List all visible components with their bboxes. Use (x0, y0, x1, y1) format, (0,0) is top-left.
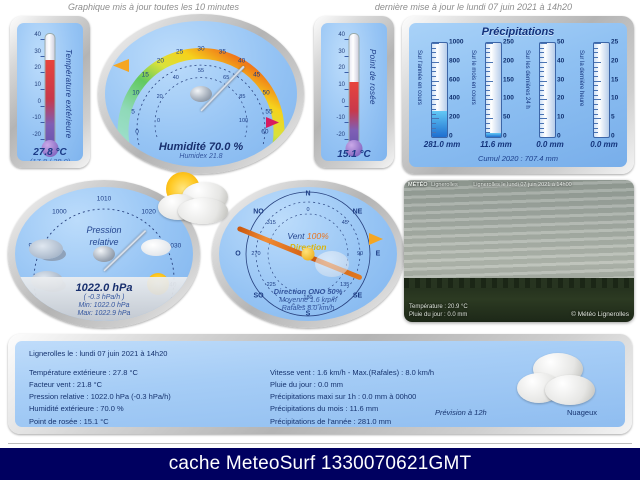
pressure-title-line1: Pression (15, 225, 193, 237)
summary-line: Pluie du jour : 0.0 mm (270, 379, 434, 391)
humidity-scale-label: 40 (238, 57, 245, 64)
summary-line: Précipitations de l'année : 281.0 mm (270, 416, 434, 427)
humidity-scale-label: 5 (131, 109, 135, 116)
precipitation-axis-label: Sur le mois en cours (470, 50, 476, 105)
forecast-icon (515, 351, 601, 409)
humidity-scale-label: 0 (135, 128, 139, 135)
humidity-scale-label: 15 (142, 72, 149, 79)
webcam-sky (404, 180, 634, 284)
pressure-hub (93, 246, 115, 262)
wind-degree-label: 45 (342, 220, 348, 226)
pressure-scale-label: 1000 (52, 209, 66, 216)
summary-left-column: Température extérieure : 27.8 °CFacteur … (29, 367, 171, 427)
precipitation-face: Précipitations Sur l'année en cours10008… (409, 23, 627, 167)
precipitation-tick-labels: 250200150100500 (502, 42, 524, 136)
pressure-scale-label: 1010 (97, 196, 111, 203)
precipitation-value: 281.0 mm (413, 140, 471, 149)
rain-cloud-icon (29, 239, 63, 259)
temperature-gauge[interactable]: 403020100-10-20 Température extérieure 2… (10, 16, 90, 168)
bottom-bar-text: cache MeteoSurf 1330070621GMT (169, 453, 472, 475)
forecast-cloud-front (545, 375, 595, 405)
forecast-label: Prévision à 12h (435, 408, 487, 417)
wind-speed: Moyenne 1.6 km/h (219, 297, 397, 305)
precipitation-column[interactable]: Sur la dernière heure25201510500.0 mm (579, 42, 627, 158)
summary-line: Point de rosée : 15.1 °C (29, 416, 171, 427)
webcam-copyright: © Météo Lignerolles (571, 311, 629, 318)
partly-cloudy-icon (141, 239, 171, 256)
thermo-scale-label: -20 (32, 132, 41, 138)
humidity-value: Humidité 70.0 % (105, 141, 297, 153)
precipitation-cumul: Cumul 2020 : 707.4 mm (409, 154, 627, 163)
pressure-value: 1022.0 hPa (15, 282, 193, 294)
summary-panel[interactable]: Lignerolles le : lundi 07 juin 2021 à 14… (8, 334, 632, 434)
webcam-logo-line1: MÉTÉO (408, 182, 428, 188)
thermo-scale-label: -10 (336, 115, 345, 121)
precipitation-axis-label: Sur la dernière heure (578, 50, 584, 106)
wind-compass-label: N (305, 191, 310, 198)
thermo-scale-label: 40 (34, 32, 41, 38)
webcam-overlay-stats: Température : 20.9 °C Pluie du jour : 0.… (409, 303, 468, 319)
humidity-inner-label: 55 (198, 68, 204, 74)
precipitation-value: 0.0 mm (575, 140, 627, 149)
webcam-timestamp: Lignerolles le lundi 07 juin 2021 à 14h0… (473, 182, 571, 188)
precipitation-value: 0.0 mm (521, 140, 579, 149)
humidity-scale-label: 55 (265, 109, 272, 116)
webcam-header: MÉTÉO Lignerolles Lignerolles le lundi 0… (408, 182, 630, 188)
wind-direction: Direction ONO 50% (219, 288, 397, 297)
thermo-scale-label: 0 (38, 99, 41, 105)
humidity-scale-label: 60 (261, 128, 268, 135)
pressure-readout: 1022.0 hPa ( -0.3 hPa/h ) Min: 1022.0 hP… (15, 282, 193, 318)
summary-face: Lignerolles le : lundi 07 juin 2021 à 14… (15, 341, 625, 427)
precipitation-tube (485, 42, 502, 138)
thermo-scale-label: 40 (338, 32, 345, 38)
summary-line: Température extérieure : 27.8 °C (29, 367, 171, 379)
thermo-scale-label: 30 (34, 49, 41, 55)
header: Graphique mis à jour toutes les 10 minut… (0, 0, 640, 13)
dewpoint-tube (349, 33, 360, 147)
dewpoint-scale: 403020100-10-20 (321, 29, 347, 147)
precipitation-tick-labels: 50403020100 (556, 42, 578, 136)
precipitation-title: Précipitations (409, 26, 627, 38)
precipitation-tube (539, 42, 556, 138)
humidity-scale-label: 25 (176, 48, 183, 55)
wind-title-line1: Vent (287, 231, 304, 241)
wind-compass-label: NE (353, 208, 363, 215)
precipitation-axis-label: Sur les dernières 24 h (524, 50, 530, 109)
humidity-gauge[interactable]: 051015202530354045505560 02040556585100 … (98, 14, 304, 174)
humidity-inner-label: 40 (173, 75, 179, 81)
summary-line: Pression relative : 1022.0 hPa (-0.3 hPa… (29, 391, 171, 403)
forecast-text: Nuageux (567, 408, 597, 417)
summary-line: Précipitations du mois : 11.6 mm (270, 403, 434, 415)
thermo-scale-label: 10 (34, 82, 41, 88)
humidity-inner-label: 0 (157, 118, 160, 124)
summary-line: Précipitations maxi sur 1h : 0.0 mm à 00… (270, 391, 434, 403)
humidity-scale-label: 45 (253, 72, 260, 79)
humidity-scale-label: 20 (157, 57, 164, 64)
wind-gust: Rafales 8.0 km/h (219, 305, 397, 313)
dewpoint-mercury (350, 82, 359, 147)
precipitation-tube (431, 42, 448, 138)
precipitation-tick-labels: 10008006004002000 (448, 42, 470, 136)
thermo-scale-label: 20 (34, 65, 41, 71)
precipitation-tube (593, 42, 610, 138)
humidity-readout: Humidité 70.0 % Humidex 21.8 (105, 141, 297, 161)
humidity-hub (190, 86, 212, 102)
precipitation-tick-labels: 2520151050 (610, 42, 627, 136)
wind-hub (302, 248, 315, 261)
humidity-humidex: Humidex 21.8 (105, 153, 297, 161)
wind-swirl-icon (315, 251, 349, 277)
summary-date: Lignerolles le : lundi 07 juin 2021 à 14… (29, 349, 167, 358)
precipitation-column[interactable]: Sur le mois en cours25020015010050011.6 … (471, 42, 521, 158)
header-right-text: dernière mise à jour le lundi 07 juin 20… (375, 2, 572, 12)
thermo-scale-label: 30 (338, 49, 345, 55)
webcam-temp: Température : 20.9 °C (409, 303, 468, 311)
humidity-scale-label: 50 (263, 89, 270, 96)
overlay-cloud-front (178, 198, 228, 224)
precipitation-value: 11.6 mm (467, 140, 525, 149)
summary-right-column: Vitesse vent : 1.6 km/h - Max.(Rafales) … (270, 367, 434, 427)
temperature-mercury (46, 60, 55, 146)
webcam-rain: Pluie du jour : 0.0 mm (409, 311, 468, 319)
header-left-text: Graphique mis à jour toutes les 10 minut… (68, 2, 239, 12)
wind-degree-label: 315 (267, 220, 276, 226)
dewpoint-value: 15.1 °C (321, 149, 387, 160)
pressure-max: Max: 1022.9 hPa (15, 310, 193, 318)
weather-dashboard: Graphique mis à jour toutes les 10 minut… (0, 0, 640, 480)
temperature-title: Température extérieure (64, 49, 73, 138)
precipitation-column[interactable]: Sur l'année en cours10008006004002000281… (417, 42, 467, 158)
humidity-scale-label: 10 (132, 89, 139, 96)
pressure-trend: ( -0.3 hPa/h ) (15, 294, 193, 302)
temperature-minmax: (17.8 / 28.0) (17, 157, 83, 161)
wind-gauge-face: NNEESESSOONO 04590135180225270315 Vent 1… (219, 187, 397, 321)
thermo-scale-label: -10 (32, 115, 41, 121)
wind-degree-label: 0 (306, 207, 309, 213)
temperature-scale: 403020100-10-20 (17, 29, 43, 147)
wind-gauge[interactable]: NNEESESSOONO 04590135180225270315 Vent 1… (212, 180, 404, 328)
precipitation-panel[interactable]: Précipitations Sur l'année en cours10008… (402, 16, 634, 174)
summary-line: Facteur vent : 21.8 °C (29, 379, 171, 391)
temperature-gauge-face: 403020100-10-20 Température extérieure 2… (17, 23, 83, 161)
humidity-inner-label: 85 (239, 94, 245, 100)
dewpoint-title: Point de rosée (368, 49, 377, 105)
weather-overlay-icon (152, 172, 238, 226)
humidity-scale-label: 30 (197, 45, 204, 52)
humidity-gauge-face: 051015202530354045505560 02040556585100 … (105, 21, 297, 167)
bottom-status-bar: cache MeteoSurf 1330070621GMT (0, 448, 640, 480)
thermo-scale-label: 20 (338, 65, 345, 71)
webcam-treeline (404, 278, 634, 288)
temperature-tube (45, 33, 56, 147)
wind-readout: Direction ONO 50% Moyenne 1.6 km/h Rafal… (219, 288, 397, 313)
dewpoint-gauge-face: 403020100-10-20 Point de rosée 15.1 °C (321, 23, 387, 161)
summary-line: Vitesse vent : 1.6 km/h - Max.(Rafales) … (270, 367, 434, 379)
thermo-scale-label: -20 (336, 132, 345, 138)
humidity-inner-label: 100 (239, 118, 248, 124)
webcam-panel[interactable]: MÉTÉO Lignerolles Lignerolles le lundi 0… (404, 180, 634, 322)
thermo-scale-label: 0 (342, 99, 345, 105)
humidity-scale-label: 35 (219, 48, 226, 55)
dewpoint-gauge[interactable]: 403020100-10-20 Point de rosée 15.1 °C (314, 16, 394, 168)
wind-compass-label: NO (253, 208, 264, 215)
wind-percent: 100% (307, 231, 329, 241)
webcam-logo-line2: Lignerolles (431, 182, 458, 188)
precipitation-column[interactable]: Sur les dernières 24 h504030201000.0 mm (525, 42, 575, 158)
pressure-min: Min: 1022.0 hPa (15, 302, 193, 310)
divider (8, 443, 632, 444)
precipitation-axis-label: Sur l'année en cours (416, 50, 422, 105)
humidity-inner-label: 20 (157, 94, 163, 100)
thermo-scale-label: 10 (338, 82, 345, 88)
summary-line: Humidité extérieure : 70.0 % (29, 403, 171, 415)
